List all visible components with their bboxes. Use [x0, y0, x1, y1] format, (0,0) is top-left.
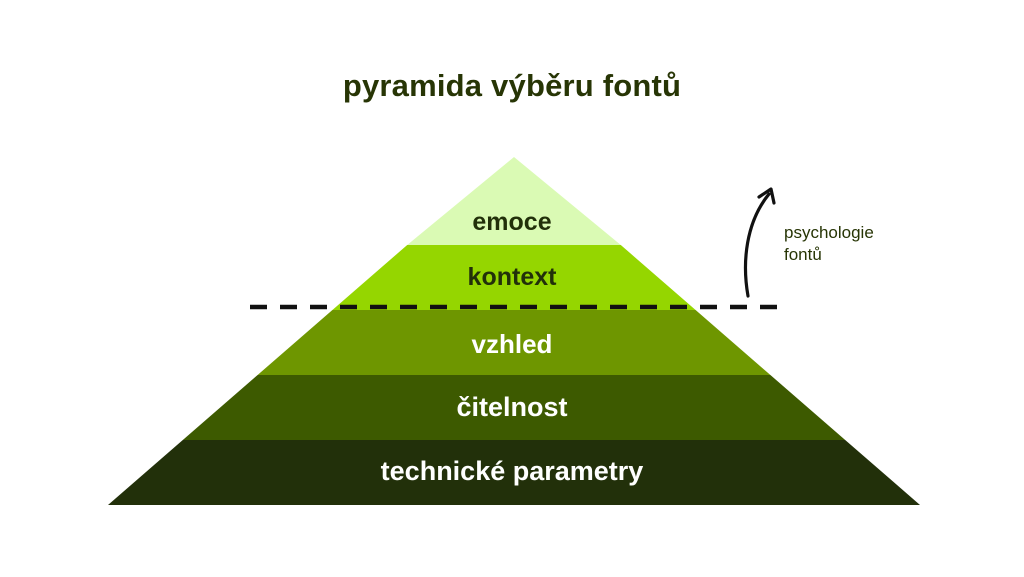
annotation-label: psychologie fontů [784, 222, 984, 266]
annotation-line-2: fontů [784, 244, 984, 266]
arrow-curve [746, 194, 769, 296]
curved-up-arrow-icon [0, 0, 1024, 577]
annotation-line-1: psychologie [784, 222, 984, 244]
psychology-annotation: psychologie fontů [0, 0, 1024, 577]
diagram-canvas: pyramida výběru fontů emoce kontext vzhl… [0, 0, 1024, 577]
